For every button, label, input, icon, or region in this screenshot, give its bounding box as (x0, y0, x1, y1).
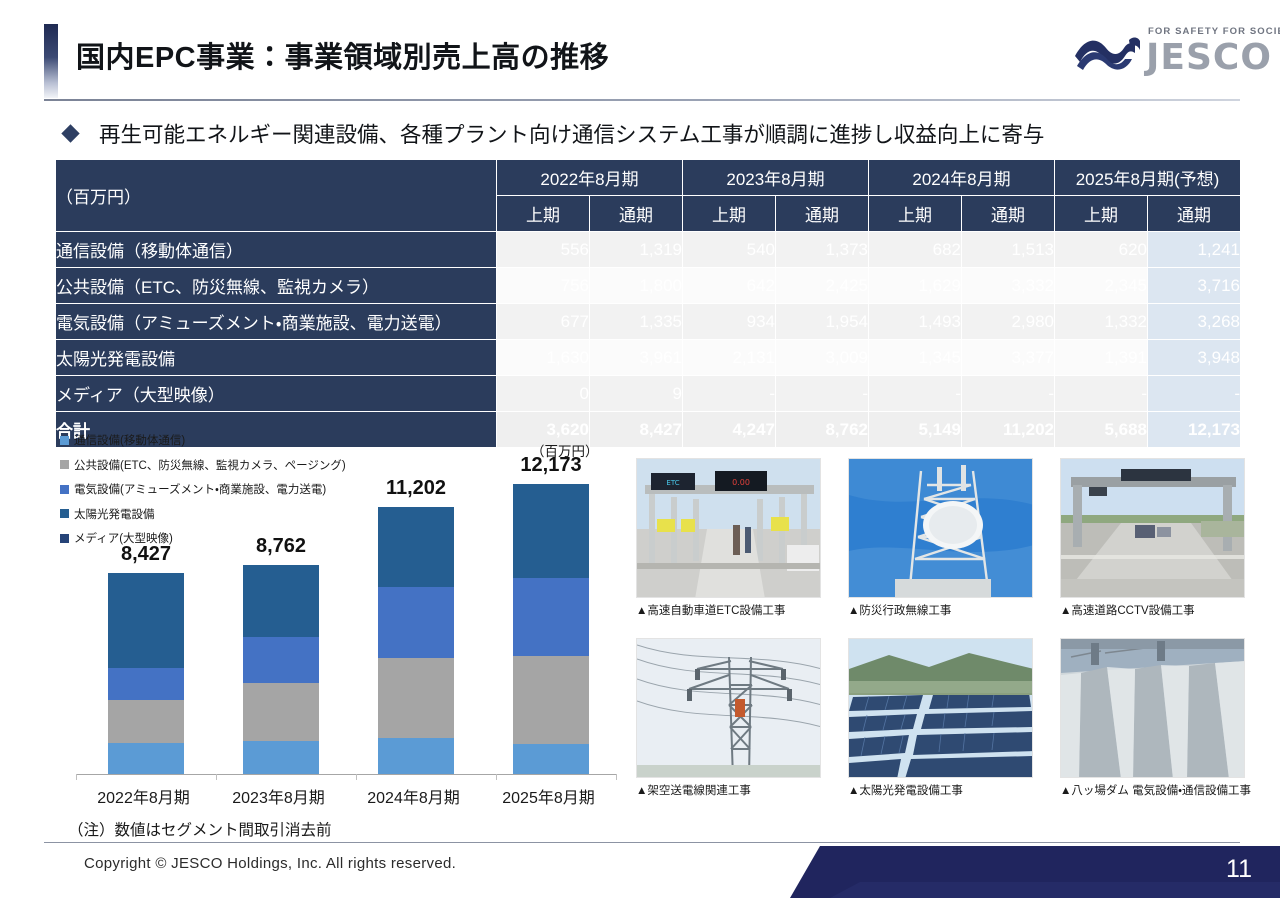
bar-segment (243, 683, 319, 741)
col-sub-2022-h1: 上期 (497, 196, 590, 232)
photo-caption: ▲高速道路CCTV設備工事 (1060, 602, 1245, 618)
subtitle-text: 再生可能エネルギー関連設備、各種プラント向け通信システム工事が順調に進捗し収益向… (99, 118, 1044, 149)
diamond-bullet-icon (61, 124, 79, 142)
bar-column: 11,202 (346, 464, 481, 774)
bar-column: 8,762 (211, 464, 346, 774)
bar-segment (243, 565, 319, 637)
cell-value: 1,332 (1055, 304, 1148, 340)
cell-value: - (869, 376, 962, 412)
table-row: 公共設備（ETC、防災無線、監視カメラ） 756 1,800 642 2,425… (56, 268, 1241, 304)
axis-tick (76, 774, 77, 780)
cell-value: 3,377 (962, 340, 1055, 376)
bar-segment (378, 587, 454, 658)
chart-x-labels: 2022年8月期 2023年8月期 2024年8月期 2025年8月期 (76, 784, 616, 808)
table-row: 電気設備（アミューズメント・商業施設、電力送電） 677 1,335 934 1… (56, 304, 1241, 340)
cell-value: 1,954 (776, 304, 869, 340)
bar-total-label: 11,202 (346, 477, 486, 500)
bar-total-label: 8,427 (76, 543, 216, 566)
photo-caption: ▲架空送電線関連工事 (636, 782, 821, 798)
cell-total: 4,247 (683, 412, 776, 448)
svg-text:ETC: ETC (666, 479, 679, 487)
photo-cell-etc: ETC 0.00 (636, 458, 821, 618)
cell-value: 1,391 (1055, 340, 1148, 376)
footer-band: 11 (790, 846, 1280, 898)
cell-value: 1,493 (869, 304, 962, 340)
cell-total: 8,762 (776, 412, 869, 448)
cell-value: 682 (869, 232, 962, 268)
table-head: （百万円） 2022年8月期 2023年8月期 2024年8月期 2025年8月… (56, 160, 1241, 232)
slide: 国内EPC事業：事業領域別売上高の推移 FOR SAFETY FOR SOCIE… (0, 0, 1280, 904)
cell-value: 1,345 (869, 340, 962, 376)
cell-value-forecast: 3,948 (1148, 340, 1241, 376)
photo-solar-farm (848, 638, 1033, 778)
jesco-wave-icon (1072, 26, 1142, 76)
cell-value: 620 (1055, 232, 1148, 268)
bar-segment (378, 738, 454, 774)
bar-column: 12,173 (481, 464, 616, 774)
logo-wordmark: JESCO (1146, 37, 1272, 78)
photo-caption: ▲高速自動車道ETC設備工事 (636, 602, 821, 618)
slide-header: 国内EPC事業：事業領域別売上高の推移 FOR SAFETY FOR SOCIE… (0, 0, 1280, 104)
col-sub-2024-h1: 上期 (869, 196, 962, 232)
chart-x-axis (76, 774, 616, 775)
col-sub-2023-h1: 上期 (683, 196, 776, 232)
bar-segment (513, 484, 589, 578)
photo-caption: ▲太陽光発電設備工事 (848, 782, 1033, 798)
cell-value: 2,345 (1055, 268, 1148, 304)
photo-cell-cctv: ▲高速道路CCTV設備工事 (1060, 458, 1245, 618)
bar-segment (513, 578, 589, 656)
cell-value-forecast: 3,716 (1148, 268, 1241, 304)
cell-value: 2,131 (683, 340, 776, 376)
legend-label: 通信設備(移動体通信) (74, 432, 185, 448)
photo-etc-toll-gate: ETC 0.00 (636, 458, 821, 598)
col-year-2023: 2023年8月期 (683, 160, 869, 196)
photo-highway-cctv (1060, 458, 1245, 598)
logo-tagline: FOR SAFETY FOR SOCIETY (1148, 26, 1280, 37)
bar-stack (108, 573, 184, 774)
cell-value: - (962, 376, 1055, 412)
bar-column: 8,427 (76, 464, 211, 774)
header-divider (44, 99, 1240, 101)
stacked-bar-chart: 通信設備(移動体通信) 公共設備(ETC、防災無線、監視カメラ、ページング) 電… (46, 432, 626, 832)
axis-tick (616, 774, 617, 780)
bar-stack (378, 507, 454, 774)
cell-value: 3,332 (962, 268, 1055, 304)
cell-value: 934 (683, 304, 776, 340)
bar-segment (513, 656, 589, 745)
row-label-media: メディア（大型映像） (56, 376, 497, 412)
table-body: 通信設備（移動体通信） 556 1,319 540 1,373 682 1,51… (56, 232, 1241, 448)
bar-segment (108, 743, 184, 774)
photo-dam-spillway (1060, 638, 1245, 778)
table-row: 通信設備（移動体通信） 556 1,319 540 1,373 682 1,51… (56, 232, 1241, 268)
cell-value: 1,513 (962, 232, 1055, 268)
photo-transmission-pylon (636, 638, 821, 778)
dam-spillway-image (1061, 639, 1245, 778)
cell-value: 3,009 (776, 340, 869, 376)
cell-value: - (776, 376, 869, 412)
cell-value: 3,961 (590, 340, 683, 376)
bar-segment (378, 507, 454, 588)
cell-value-forecast: - (1148, 376, 1241, 412)
table-row: メディア（大型映像） 0 9 - - - - - - (56, 376, 1241, 412)
photo-caption: ▲防災行政無線工事 (848, 602, 1033, 618)
footer-divider (44, 842, 1240, 843)
x-tick-label: 2022年8月期 (76, 784, 211, 808)
chart-footnote: （注）数値はセグメント間取引消去前 (68, 818, 332, 840)
copyright-text: Copyright © JESCO Holdings, Inc. All rig… (84, 855, 456, 872)
bar-total-label: 12,173 (481, 454, 621, 477)
table-header-year-row: （百万円） 2022年8月期 2023年8月期 2024年8月期 2025年8月… (56, 160, 1241, 196)
col-year-2025: 2025年8月期(予想) (1055, 160, 1241, 196)
chart-bars: 8,4278,76211,20212,173 (76, 464, 616, 774)
bar-segment (108, 668, 184, 700)
photo-cell-pylon: ▲架空送電線関連工事 (636, 638, 821, 798)
table-row: 太陽光発電設備 1,630 3,961 2,131 3,009 1,345 3,… (56, 340, 1241, 376)
cell-value: 1,800 (590, 268, 683, 304)
cell-value: 677 (497, 304, 590, 340)
cell-value: 1,335 (590, 304, 683, 340)
row-label-telecom: 通信設備（移動体通信） (56, 232, 497, 268)
cell-total: 11,202 (962, 412, 1055, 448)
photo-radio-tower (848, 458, 1033, 598)
x-tick-label: 2024年8月期 (346, 784, 481, 808)
etc-toll-gate-image: ETC 0.00 (637, 459, 821, 598)
cell-value: 1,373 (776, 232, 869, 268)
cell-value: 2,425 (776, 268, 869, 304)
legend-swatch-telecom (60, 436, 69, 445)
cell-total-forecast: 12,173 (1148, 412, 1241, 448)
bar-stack (243, 565, 319, 774)
page-number: 11 (1226, 855, 1252, 884)
bar-segment (513, 744, 589, 774)
cell-value: 0 (497, 376, 590, 412)
photo-grid: ETC 0.00 (636, 458, 1246, 814)
bar-segment (243, 741, 319, 774)
cell-value: 556 (497, 232, 590, 268)
row-label-public: 公共設備（ETC、防災無線、監視カメラ） (56, 268, 497, 304)
col-sub-2024-fy: 通期 (962, 196, 1055, 232)
x-tick-label: 2023年8月期 (211, 784, 346, 808)
x-tick-label: 2025年8月期 (481, 784, 616, 808)
bar-segment (108, 573, 184, 667)
cell-value: 756 (497, 268, 590, 304)
bar-segment (243, 637, 319, 684)
bar-segment (108, 700, 184, 743)
photo-cell-solar: ▲太陽光発電設備工事 (848, 638, 1033, 798)
bar-total-label: 8,762 (211, 535, 351, 558)
col-year-2024: 2024年8月期 (869, 160, 1055, 196)
jesco-logo: FOR SAFETY FOR SOCIETY JESCO (1072, 18, 1262, 84)
svg-text:0.00: 0.00 (732, 478, 750, 487)
legend-item: 通信設備(移動体通信) (60, 432, 346, 448)
bar-stack (513, 484, 589, 774)
highway-cctv-gantry-image (1061, 459, 1245, 598)
cell-value: 1,630 (497, 340, 590, 376)
cell-value-forecast: 1,241 (1148, 232, 1241, 268)
photo-cell-radio: ▲防災行政無線工事 (848, 458, 1033, 618)
footer-band-shape-secondary (790, 882, 1280, 898)
row-label-solar: 太陽光発電設備 (56, 340, 497, 376)
row-label-electric: 電気設備（アミューズメント・商業施設、電力送電） (56, 304, 497, 340)
cell-value: - (1055, 376, 1148, 412)
col-sub-2023-fy: 通期 (776, 196, 869, 232)
solar-farm-image (849, 639, 1033, 778)
table-unit-label: （百万円） (56, 160, 497, 232)
axis-tick (496, 774, 497, 780)
chart-plot-area: 8,4278,76211,20212,173 2022年8月期 2023年8月期… (46, 464, 626, 806)
cell-value-forecast: 3,268 (1148, 304, 1241, 340)
cell-value: 2,980 (962, 304, 1055, 340)
bar-segment (378, 658, 454, 737)
axis-tick (356, 774, 357, 780)
col-sub-2025-fy: 通期 (1148, 196, 1241, 232)
segment-sales-table: （百万円） 2022年8月期 2023年8月期 2024年8月期 2025年8月… (55, 159, 1241, 448)
cell-total: 5,149 (869, 412, 962, 448)
cell-total: 5,688 (1055, 412, 1148, 448)
col-sub-2022-fy: 通期 (590, 196, 683, 232)
photo-caption: ▲八ッ場ダム 電気設備・通信設備工事 (1060, 782, 1245, 798)
col-year-2022: 2022年8月期 (497, 160, 683, 196)
cell-value: - (683, 376, 776, 412)
col-sub-2025-h1: 上期 (1055, 196, 1148, 232)
cell-value: 1,319 (590, 232, 683, 268)
radio-tower-antenna-image (849, 459, 1033, 598)
cell-value: 9 (590, 376, 683, 412)
cell-value: 642 (683, 268, 776, 304)
axis-tick (216, 774, 217, 780)
page-title: 国内EPC事業：事業領域別売上高の推移 (76, 34, 609, 76)
subtitle-bullet-row: 再生可能エネルギー関連設備、各種プラント向け通信システム工事が順調に進捗し収益向… (64, 118, 1044, 149)
cell-value: 1,629 (869, 268, 962, 304)
photo-cell-dam: ▲八ッ場ダム 電気設備・通信設備工事 (1060, 638, 1245, 798)
cell-value: 540 (683, 232, 776, 268)
transmission-pylon-image (637, 639, 821, 778)
title-accent-bar (44, 24, 58, 98)
